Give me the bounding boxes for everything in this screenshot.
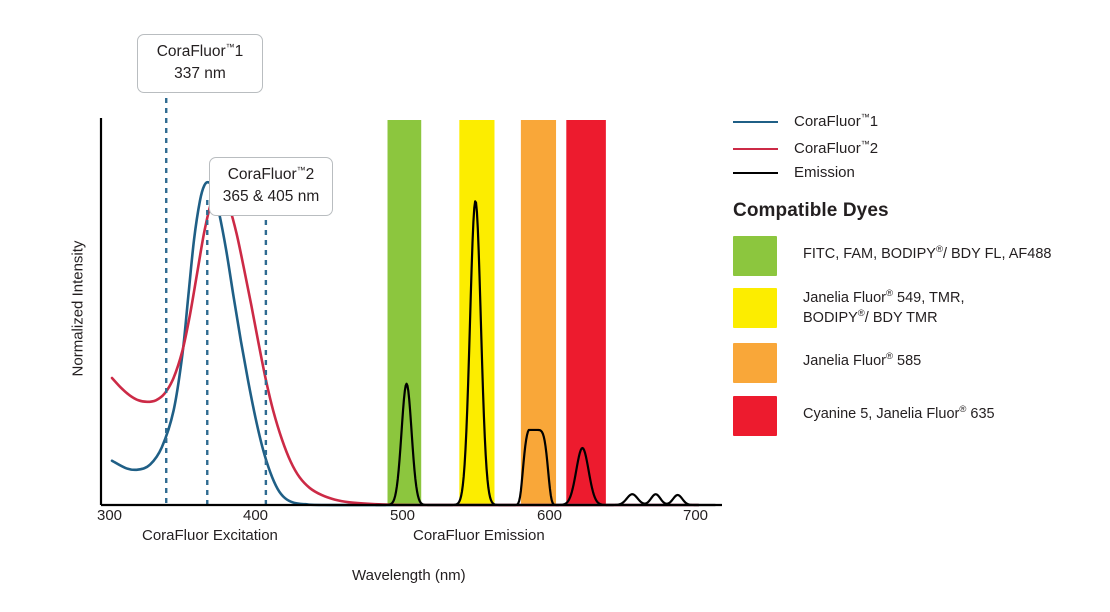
dye-row-yellow: Janelia Fluor® 549, TMR, BODIPY®/ BDY TM… — [733, 288, 964, 328]
x-tick-300: 300 — [97, 507, 122, 524]
dye-swatch-red — [733, 396, 777, 436]
callout-corafluor1-line1: CoraFluor™1 — [148, 41, 252, 63]
section-label-emission: CoraFluor Emission — [413, 527, 545, 544]
dye-row-green: FITC, FAM, BODIPY®/ BDY FL, AF488 — [733, 236, 1051, 276]
x-tick-400: 400 — [243, 507, 268, 524]
x-tick-700: 700 — [683, 507, 708, 524]
legend-panel: CoraFluor™1 CoraFluor™2 Emission Compati… — [730, 0, 1110, 612]
legend-item-emission: Emission — [733, 164, 855, 181]
x-axis-title: Wavelength (nm) — [352, 567, 466, 584]
section-label-excitation: CoraFluor Excitation — [142, 527, 278, 544]
legend-line-emission — [733, 172, 778, 174]
callout-corafluor1-line2: 337 nm — [148, 63, 252, 85]
dye-label-yellow: Janelia Fluor® 549, TMR, BODIPY®/ BDY TM… — [803, 288, 964, 328]
dye-row-red: Cyanine 5, Janelia Fluor® 635 — [733, 396, 995, 436]
legend-label-corafluor2: CoraFluor™2 — [794, 140, 878, 157]
compatible-dyes-title: Compatible Dyes — [733, 200, 889, 222]
legend-label-emission: Emission — [794, 164, 855, 181]
legend-item-corafluor1: CoraFluor™1 — [733, 113, 878, 130]
y-axis-label: Normalized Intensity — [70, 224, 87, 394]
callout-corafluor2: CoraFluor™2 365 & 405 nm — [209, 157, 333, 216]
legend-line-corafluor1 — [733, 121, 778, 123]
callout-corafluor2-line1: CoraFluor™2 — [220, 164, 322, 186]
dye-row-orange: Janelia Fluor® 585 — [733, 343, 921, 383]
callout-corafluor1: CoraFluor™1 337 nm — [137, 34, 263, 93]
dye-label-green: FITC, FAM, BODIPY®/ BDY FL, AF488 — [803, 236, 1051, 265]
dye-swatch-green — [733, 236, 777, 276]
x-tick-500: 500 — [390, 507, 415, 524]
legend-item-corafluor2: CoraFluor™2 — [733, 140, 878, 157]
legend-line-corafluor2 — [733, 148, 778, 150]
callout-corafluor2-line2: 365 & 405 nm — [220, 186, 322, 208]
chart-figure: CoraFluor™1 337 nm CoraFluor™2 365 & 405… — [0, 0, 1110, 612]
dye-label-red: Cyanine 5, Janelia Fluor® 635 — [803, 396, 995, 425]
x-tick-600: 600 — [537, 507, 562, 524]
dye-swatch-orange — [733, 343, 777, 383]
legend-label-corafluor1: CoraFluor™1 — [794, 113, 878, 130]
dye-swatch-yellow — [733, 288, 777, 328]
emission-band-red-band — [566, 120, 606, 505]
dye-label-orange: Janelia Fluor® 585 — [803, 343, 921, 372]
emission-band-green-band — [388, 120, 422, 505]
plot-area: CoraFluor™1 337 nm CoraFluor™2 365 & 405… — [0, 0, 730, 612]
